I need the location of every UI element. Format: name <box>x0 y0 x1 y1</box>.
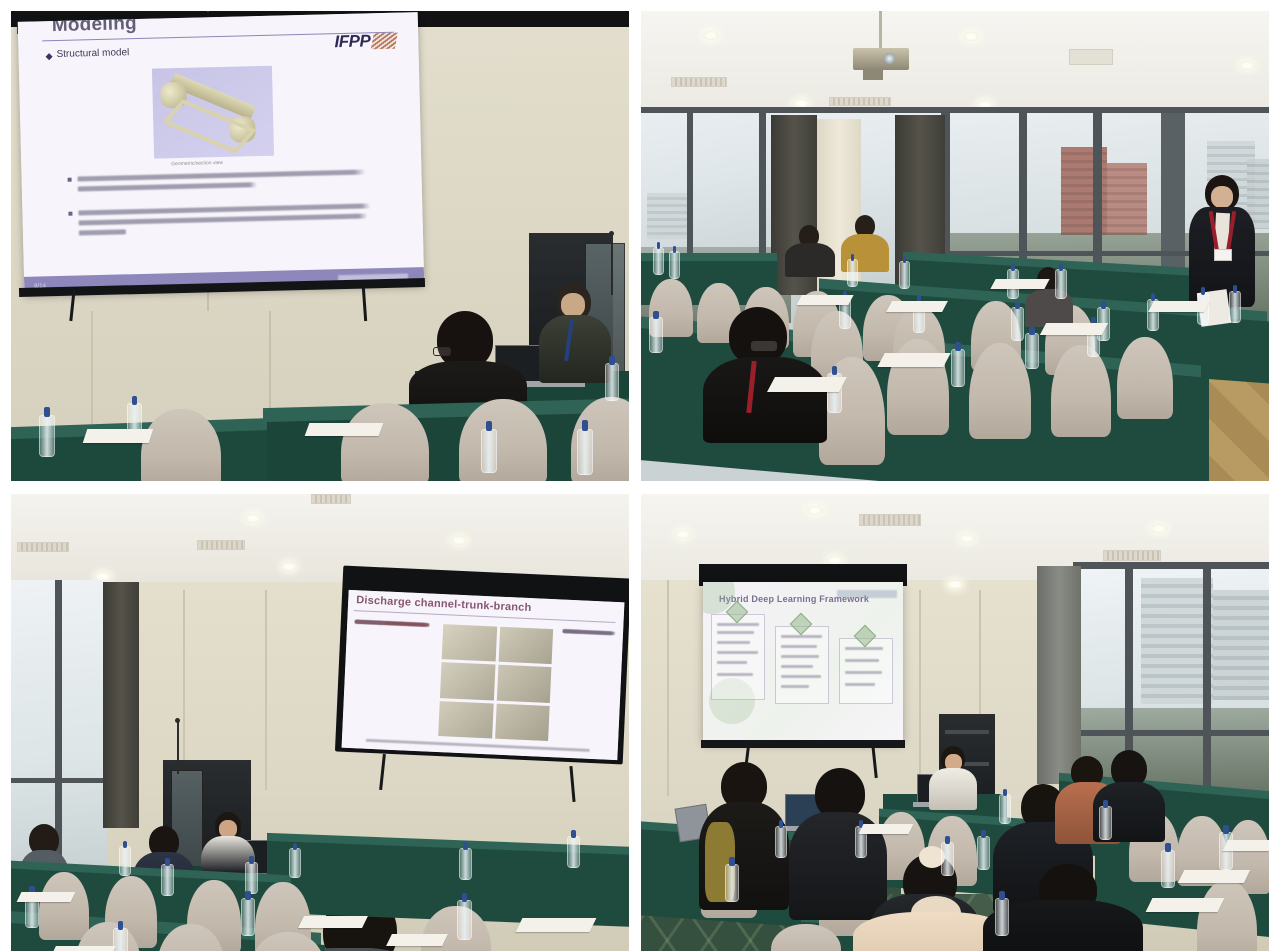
person-seated-back-left <box>785 225 835 275</box>
water-bottle <box>669 251 680 279</box>
downlight <box>703 31 719 40</box>
notepad <box>1146 898 1225 912</box>
notepad <box>516 918 597 932</box>
skyline-building <box>1213 590 1269 700</box>
water-bottle <box>1055 269 1067 299</box>
projection-screen: Modeling IFPP Structural model Geometric… <box>18 12 425 294</box>
water-bottle <box>899 261 910 289</box>
notepad <box>886 301 948 312</box>
water-bottle <box>289 848 301 878</box>
notepad <box>305 423 384 436</box>
chair <box>39 872 89 940</box>
water-bottle <box>481 429 497 473</box>
slide-bullet-structural-model: Structural model <box>56 47 129 60</box>
person-face <box>1211 186 1233 208</box>
water-bottle <box>457 900 472 940</box>
window-head-rail <box>1073 562 1269 569</box>
downlight <box>245 514 261 523</box>
notepad <box>767 377 847 392</box>
wall-seam <box>265 590 267 790</box>
water-bottle <box>605 363 619 401</box>
air-vent <box>17 542 69 552</box>
notepad <box>877 353 950 367</box>
slide-figure-caption: Geometric/section view <box>171 160 223 167</box>
slide-hybrid-deep-learning: Hybrid Deep Learning Framework <box>703 582 903 742</box>
ifpp-logo: IFPP <box>334 31 370 52</box>
person-seated-foreground <box>703 307 827 443</box>
projector-bracket <box>863 70 883 80</box>
water-bottle <box>119 846 131 876</box>
badge <box>1214 249 1232 261</box>
air-vent <box>197 540 245 550</box>
notepad <box>50 946 116 951</box>
photo-bottom-right: View from the back of a fuller room; pro… <box>641 494 1269 951</box>
water-bottle <box>577 429 593 475</box>
downlight <box>963 32 979 41</box>
ifpp-logo-stripes <box>371 33 398 50</box>
notepad <box>1178 870 1250 883</box>
slide-figure <box>152 66 274 159</box>
notepad <box>83 429 154 443</box>
window-mullion <box>1203 562 1211 812</box>
water-bottle <box>1229 291 1241 323</box>
projector-mount-pole <box>879 11 882 49</box>
slide-bullet-marker <box>46 53 53 60</box>
notepad <box>298 916 368 928</box>
window-mullion-horizontal <box>11 778 107 783</box>
water-bottle <box>39 415 55 457</box>
slide-body-bullet-2: For excitation settings, the body force … <box>78 203 371 235</box>
photo-bottom-left: Room corner view from the back; large fl… <box>11 494 629 951</box>
person-torso <box>785 243 835 277</box>
water-bottle <box>1011 307 1024 341</box>
downlight <box>947 580 963 589</box>
microphone-head <box>175 718 180 723</box>
projector-lens <box>884 53 895 64</box>
person-glasses <box>751 341 777 351</box>
water-bottle <box>649 317 663 353</box>
air-vent <box>311 494 351 504</box>
downlight <box>1151 524 1167 533</box>
water-bottle <box>725 864 739 902</box>
notepad <box>1222 840 1269 851</box>
wall-seam <box>91 311 93 441</box>
water-bottle <box>1219 832 1233 870</box>
slide-panel-3 <box>839 638 893 704</box>
slide-right-column: The propagation of spreading branches gi… <box>563 630 617 632</box>
slide-panel-1 <box>711 614 765 700</box>
slide-footnote: Fig. 8 Images of the gap – measurement o… <box>366 739 590 749</box>
downlight <box>807 506 823 515</box>
slide-panel-2 <box>775 626 829 704</box>
downlight <box>1239 61 1255 70</box>
slide-bullet-marker <box>68 212 72 216</box>
air-vent <box>859 514 921 526</box>
water-bottle <box>459 848 472 880</box>
projection-screen: Hybrid Deep Learning Framework <box>703 582 903 742</box>
notepad <box>1040 323 1108 335</box>
frame-image <box>440 662 495 700</box>
cabinet-shelf <box>945 730 989 734</box>
person-torso <box>929 768 977 810</box>
notepad <box>859 824 914 834</box>
air-vent <box>671 77 727 87</box>
slide-header-logos <box>837 590 897 598</box>
water-bottle <box>999 794 1011 824</box>
frame-image <box>498 627 553 665</box>
flat-panel-screen: Discharge channel-trunk-branch At the di… <box>342 590 625 760</box>
water-bottle <box>1025 333 1039 369</box>
window-mullion-horizontal <box>1073 730 1269 736</box>
curtain-dark <box>103 582 139 828</box>
water-bottle <box>995 898 1009 936</box>
person-session-chair <box>929 746 977 808</box>
person-torso <box>703 357 827 443</box>
slide-left-column: At the discharge channel, the brilliance… <box>355 620 431 623</box>
slide-body-bullet-1: The model retains only the end chamber, … <box>78 169 366 191</box>
notepad <box>386 934 448 946</box>
photo-top-left: Conference room with projection screen s… <box>11 11 629 481</box>
person-face <box>561 293 585 317</box>
water-bottle <box>977 836 990 870</box>
slide-bullet-marker <box>68 178 72 182</box>
ceiling <box>641 11 1269 107</box>
water-bottle <box>653 247 664 275</box>
water-bottle <box>941 842 954 876</box>
person-speaker <box>535 283 613 383</box>
downlight <box>959 534 975 543</box>
person-glasses <box>433 347 451 356</box>
frame-image <box>442 624 497 662</box>
microphone-head <box>609 231 614 236</box>
frame-image <box>438 701 493 739</box>
air-vent <box>829 97 891 106</box>
water-bottle <box>245 862 258 894</box>
water-bottle <box>1099 806 1112 840</box>
water-bottle <box>567 836 580 868</box>
skyline-building <box>647 193 687 239</box>
slide-image-grid <box>438 624 553 741</box>
wall-seam <box>667 580 669 796</box>
downlight <box>675 530 691 539</box>
water-bottle <box>113 928 128 951</box>
wall-seam <box>919 590 921 790</box>
slide-discharge-channel: Discharge channel-trunk-branch At the di… <box>342 590 625 760</box>
skyline-building <box>1107 163 1147 235</box>
water-bottle <box>241 898 255 936</box>
microphone-stand <box>177 722 179 774</box>
ceiling-projector <box>853 48 909 70</box>
notepad <box>990 279 1049 289</box>
water-bottle <box>161 864 174 896</box>
photo-top-right: Wide view of the meeting room: long gree… <box>641 11 1269 481</box>
window-head-rail <box>641 107 1269 113</box>
frame-image <box>496 665 551 703</box>
downlight <box>281 562 297 571</box>
water-bottle <box>951 349 965 387</box>
notepad <box>17 892 76 902</box>
curtain-grey <box>1037 566 1081 784</box>
air-vent <box>1103 550 1161 561</box>
slide-modeling: Modeling IFPP Structural model Geometric… <box>18 12 425 294</box>
person-torso <box>539 315 611 383</box>
air-vent <box>1069 49 1113 65</box>
notepad <box>796 295 853 305</box>
water-bottle <box>1161 850 1175 888</box>
notepad <box>1148 301 1210 312</box>
frame-image <box>495 703 550 741</box>
downlight <box>451 536 467 545</box>
photo-collage: Conference room with projection screen s… <box>0 0 1269 951</box>
water-bottle <box>775 826 787 858</box>
water-bottle <box>847 259 858 287</box>
